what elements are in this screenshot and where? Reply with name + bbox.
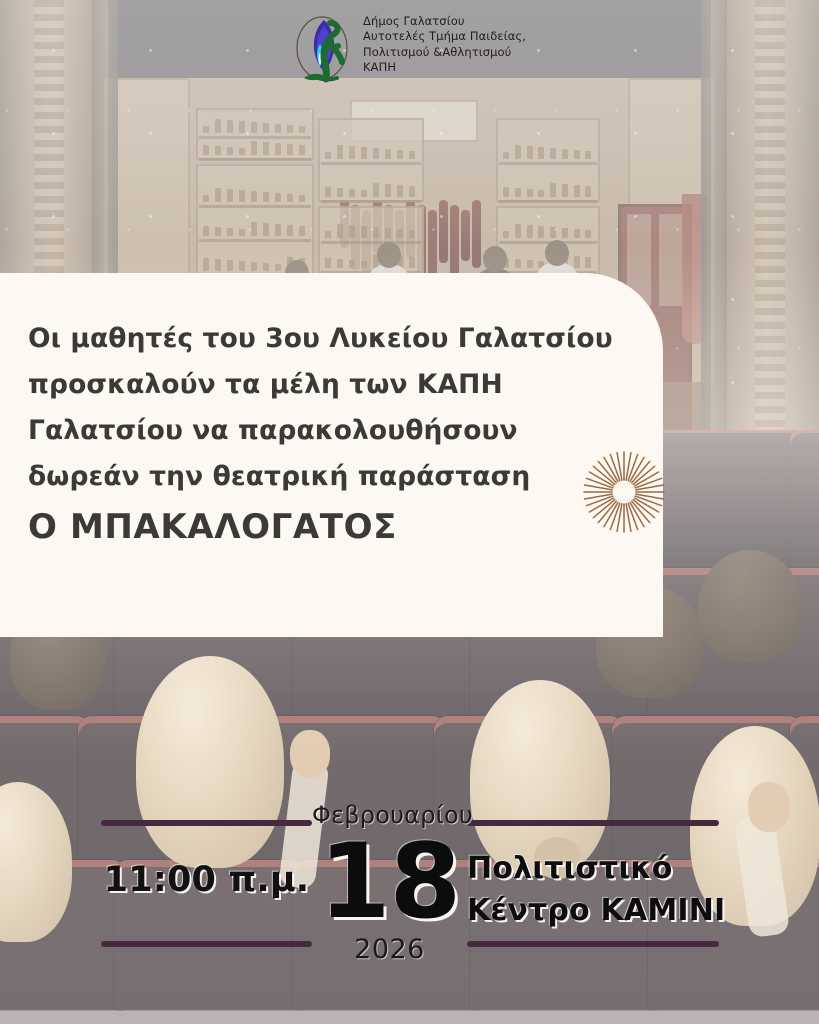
event-day: 18 <box>312 830 467 934</box>
org-line-4: ΚΑΠΗ <box>363 60 526 75</box>
invitation-line-3: Γαλατσίου να παρακολουθήσουν <box>28 408 583 454</box>
event-poster: Δήμος Γαλατσίου Αυτοτελές Τμήμα Παιδείας… <box>0 0 819 1024</box>
invitation-text-block: Οι μαθητές του 3ου Λυκείου Γαλατσίου προ… <box>28 316 583 552</box>
org-line-1: Δήμος Γαλατσίου <box>363 14 526 29</box>
venue-line-1: Πολιτιστικό <box>467 848 733 890</box>
sunburst-icon <box>581 449 667 535</box>
invitation-panel: Οι μαθητές του 3ου Λυκείου Γαλατσίου προ… <box>0 273 663 637</box>
org-line-2: Αυτοτελές Τμήμα Παιδείας, <box>363 29 526 44</box>
rule-bottom-left <box>101 941 312 947</box>
invitation-line-4: δωρεάν την θεατρική παράσταση <box>28 454 583 500</box>
rule-top-left <box>101 820 312 826</box>
event-details-bar: 11:00 π.μ. Φεβρουαρίου 18 2026 Πολιτιστι… <box>0 800 819 985</box>
invitation-line-1: Οι μαθητές του 3ου Λυκείου Γαλατσίου <box>28 316 583 362</box>
organisation-name: Δήμος Γαλατσίου Αυτοτελές Τμήμα Παιδείας… <box>363 14 526 76</box>
rule-top-right <box>467 820 719 826</box>
invitation-line-2: προσκαλούν τα μέλη των ΚΑΠΗ <box>28 362 583 408</box>
rule-bottom-right <box>467 941 719 947</box>
event-venue: Πολιτιστικό Κέντρο ΚΑΜΙΝΙ <box>467 848 733 932</box>
org-line-3: Πολιτισμού &Αθλητισμού <box>363 45 526 60</box>
show-title: Ο ΜΠΑΚΑΛΟΓΑΤΟΣ <box>28 502 583 552</box>
event-date: Φεβρουαρίου 18 2026 <box>312 800 467 966</box>
event-time: 11:00 π.μ. <box>101 860 312 900</box>
galatsi-municipality-emblem-icon <box>296 14 354 88</box>
venue-line-2: Κέντρο ΚΑΜΙΝΙ <box>467 890 733 932</box>
organisation-header: Δήμος Γαλατσίου Αυτοτελές Τμήμα Παιδείας… <box>296 14 526 88</box>
